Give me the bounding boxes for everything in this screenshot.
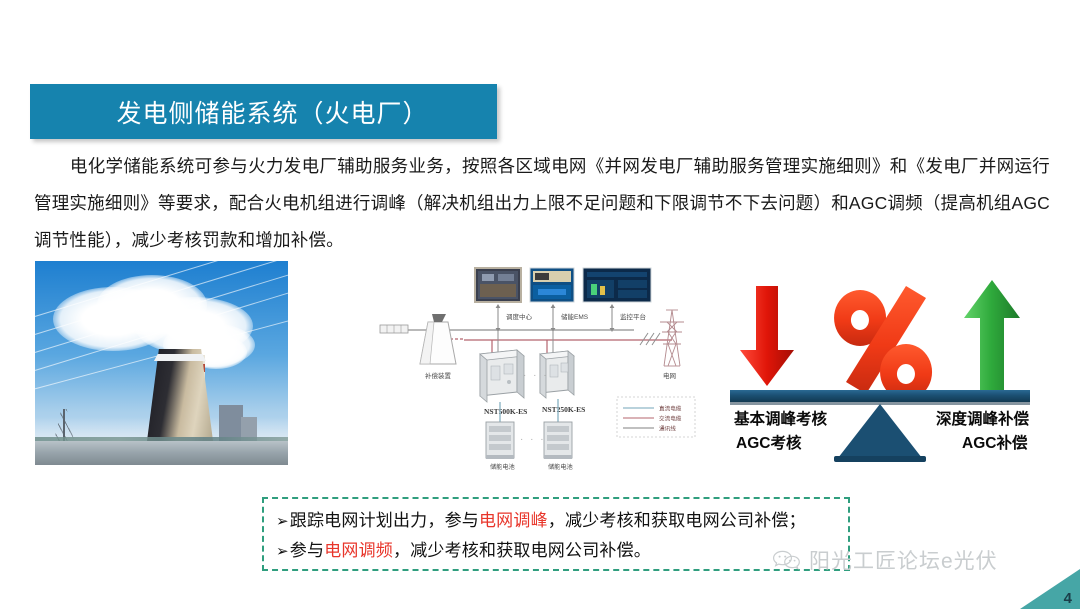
balance-beam	[730, 390, 1030, 402]
converter-cabinet-nst500k	[480, 350, 524, 402]
bullet-2-post: ，减少考核和获取电网公司补偿。	[393, 541, 651, 560]
power-plant-photo	[35, 261, 288, 465]
screen-monitor-platform	[583, 268, 651, 302]
body-paragraph: 电化学储能系统可参与火力发电厂辅助服务业务，按照各区域电网《并网发电厂辅助服务管…	[34, 148, 1050, 258]
screen-dispatch-center	[475, 268, 521, 302]
bullet-1-highlight: 电网调峰	[479, 511, 548, 530]
callout-bullet-2: ➢参与电网调频，减少考核和获取电网公司补偿。	[276, 536, 838, 566]
balance-fulcrum	[838, 404, 922, 458]
right-label-line2: AGC补偿	[962, 433, 1028, 452]
slide-title-bar: 发电侧储能系统（火电厂）	[30, 84, 497, 139]
watermark-text: 阳光工匠论坛e光伏	[809, 545, 998, 575]
watermark: 阳光工匠论坛e光伏	[772, 545, 998, 575]
converter-label-1: NST500K-ES	[484, 407, 527, 416]
page-title: 发电侧储能系统（火电厂）	[98, 94, 428, 130]
down-arrow-red	[740, 286, 794, 386]
sensor-box	[380, 325, 408, 333]
screen-label-dispatch: 调度中心	[506, 312, 533, 321]
bullet-1-post: ，减少考核和获取电网公司补偿；	[548, 511, 806, 530]
storage-system-schematic: 调度中心 储能EMS 监控平台	[372, 262, 702, 477]
grid-label: 电网	[663, 371, 676, 380]
page-number: 4	[1064, 590, 1072, 607]
battery-rack-2	[544, 422, 572, 459]
bullet-2-highlight: 电网调频	[324, 541, 393, 560]
right-label-line1: 深度调峰补偿	[936, 409, 1030, 428]
screen-ems	[530, 268, 574, 302]
schematic-legend: 直流电缆 交流电缆 通讯线	[617, 397, 695, 437]
balance-infographic: 基本调峰考核 AGC考核 深度调峰补偿 AGC补偿	[710, 272, 1055, 482]
cabinet-ellipsis: · · ·	[523, 370, 549, 381]
battery-label-1: 储能电池	[490, 463, 515, 471]
legend-label-dc: 直流电缆	[659, 405, 682, 413]
slide: 发电侧储能系统（火电厂） 电化学储能系统可参与火力发电厂辅助服务业务，按照各区域…	[0, 0, 1080, 609]
screen-label-monitor: 监控平台	[620, 312, 646, 321]
bullet-arrow-icon: ➢	[276, 513, 289, 530]
bullet-arrow-icon: ➢	[276, 543, 289, 560]
battery-ellipsis: · · ·	[520, 434, 546, 445]
wechat-icon	[772, 549, 802, 571]
plant-tower-icon: 补偿装置	[420, 314, 456, 380]
percent-symbol	[834, 286, 932, 400]
ground	[35, 441, 288, 465]
bullet-1-pre: 跟踪电网计划出力，参与	[290, 511, 479, 530]
plant-label: 补偿装置	[425, 371, 452, 380]
callout-bullet-1: ➢跟踪电网计划出力，参与电网调峰，减少考核和获取电网公司补偿；	[276, 506, 838, 536]
grid-tower-icon	[660, 310, 684, 366]
line-break-marks	[640, 333, 660, 345]
left-label-line1: 基本调峰考核	[733, 409, 828, 428]
up-arrow-green	[964, 280, 1020, 390]
screen-label-ems: 储能EMS	[561, 312, 589, 321]
battery-label-2: 储能电池	[548, 463, 573, 471]
left-label-line2: AGC考核	[736, 433, 802, 452]
legend-label-comm: 通讯线	[659, 425, 676, 433]
page-corner: 4	[1020, 569, 1080, 609]
bullet-2-pre: 参与	[290, 541, 324, 560]
legend-label-ac: 交流电缆	[659, 415, 682, 423]
cooling-tower-rim	[149, 354, 211, 361]
battery-rack-1	[486, 422, 514, 459]
key-points-callout: ➢跟踪电网计划出力，参与电网调峰，减少考核和获取电网公司补偿； ➢参与电网调频，…	[262, 497, 850, 571]
converter-label-2: NST250K-ES	[542, 405, 585, 414]
